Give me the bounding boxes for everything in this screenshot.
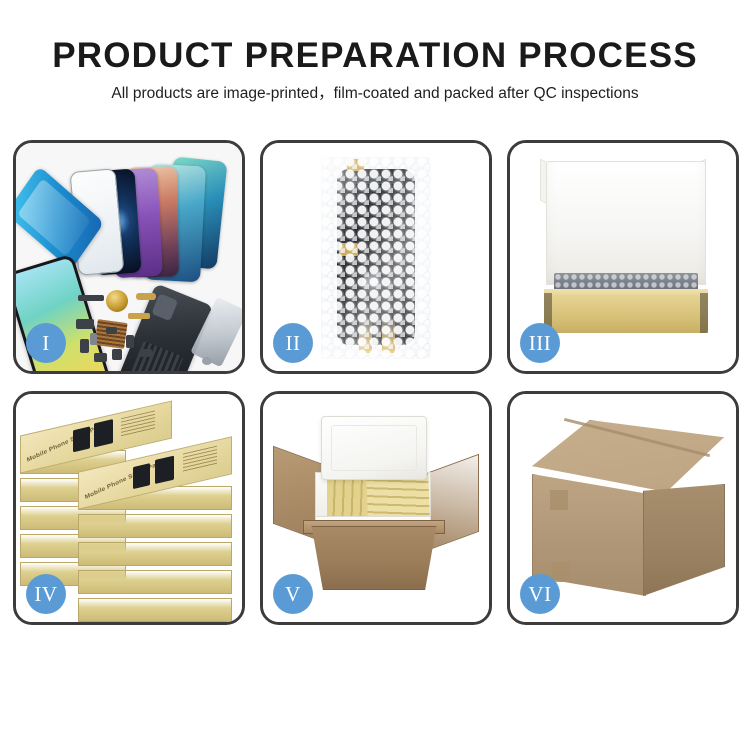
small-part [76, 319, 94, 329]
carton-front-panel [303, 526, 445, 590]
step-panel-1[interactable]: I [13, 140, 245, 374]
retail-box [78, 514, 232, 538]
box-thumbnail [155, 456, 174, 484]
speaker-component [106, 290, 128, 312]
carton-tape-lower [552, 562, 570, 582]
small-part [128, 313, 150, 319]
step-panel-3[interactable]: III [507, 140, 739, 374]
step-badge-4: IV [26, 574, 66, 614]
small-part [80, 339, 89, 353]
box-thumbnail [133, 463, 150, 489]
step-panel-5[interactable]: V [260, 391, 492, 625]
small-part [90, 333, 97, 345]
small-part [112, 349, 122, 360]
box-thumbnail [94, 419, 113, 447]
plastic-sheen [321, 157, 431, 359]
retail-box [78, 570, 232, 594]
small-part [78, 295, 104, 301]
small-part [106, 327, 117, 334]
retail-box [78, 542, 232, 566]
process-step-grid: I II [13, 140, 739, 625]
step-panel-6[interactable]: VI [507, 391, 739, 625]
small-part [94, 353, 107, 362]
yellow-box-tray [544, 295, 708, 333]
bubble-wrap-package [321, 157, 431, 359]
step-badge-5: V [273, 574, 313, 614]
small-part [202, 357, 212, 365]
page-title: PRODUCT PREPARATION PROCESS [0, 38, 750, 73]
step-badge-3: III [520, 323, 560, 363]
box-spec-lines [121, 410, 155, 438]
chip-grid-component [94, 319, 127, 349]
small-part [126, 335, 134, 348]
tray-edge-right [700, 293, 708, 333]
page-subtitle: All products are image-printed，film-coat… [0, 86, 750, 102]
box-thumbnail [73, 426, 90, 452]
step-badge-6: VI [520, 574, 560, 614]
styrofoam-lid [321, 416, 427, 480]
retail-box [78, 598, 232, 622]
box-spec-lines [183, 446, 217, 474]
small-part [136, 293, 156, 300]
step-badge-1: I [26, 323, 66, 363]
carton-tape-upper [550, 490, 568, 510]
small-part [140, 349, 152, 357]
header: PRODUCT PREPARATION PROCESS All products… [0, 0, 750, 102]
step-panel-4[interactable]: Mobile Phone Spare Parts Mobile Phone Sp… [13, 391, 245, 625]
step-panel-2[interactable]: II [260, 140, 492, 374]
step-badge-2: II [273, 323, 313, 363]
white-foam-lid [546, 161, 706, 285]
